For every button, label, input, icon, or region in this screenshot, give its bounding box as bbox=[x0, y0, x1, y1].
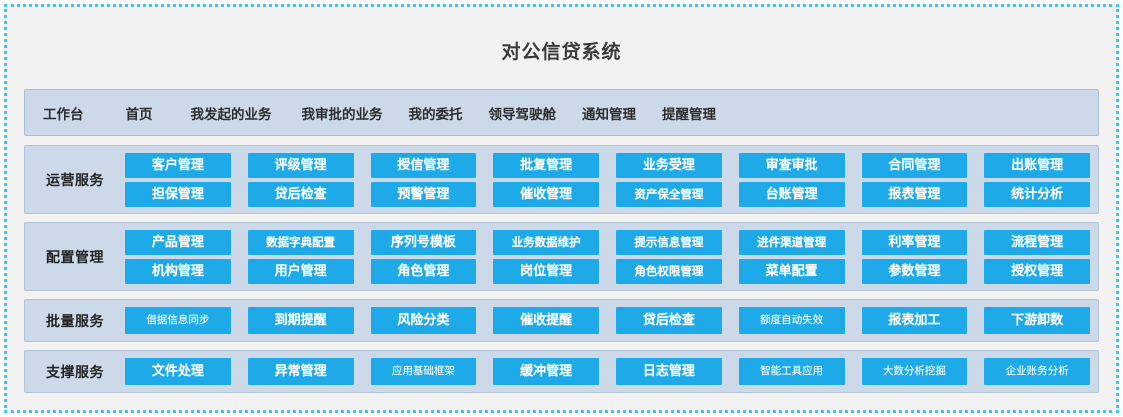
module-sections: 运营服务客户管理评级管理授信管理批复管理业务受理审查审批合同管理出账管理担保管理… bbox=[24, 145, 1099, 393]
module-tile-button[interactable]: 合同管理 bbox=[862, 153, 968, 178]
section-tile-grid-3: 文件处理异常管理应用基础框架缓冲管理日志管理智能工具应用大数分析挖掘企业账务分析 bbox=[125, 358, 1090, 385]
nav-item-4[interactable]: 我的委托 bbox=[409, 103, 463, 123]
nav-item-2[interactable]: 我发起的业务 bbox=[191, 103, 272, 123]
module-tile-button[interactable]: 报表管理 bbox=[862, 182, 968, 207]
section-panel-3: 支撑服务文件处理异常管理应用基础框架缓冲管理日志管理智能工具应用大数分析挖掘企业… bbox=[24, 350, 1099, 393]
module-tile-button[interactable]: 文件处理 bbox=[125, 358, 231, 385]
module-tile-button[interactable]: 统计分析 bbox=[984, 182, 1090, 207]
module-tile-button[interactable]: 额度自动失效 bbox=[739, 307, 845, 334]
module-tile-button[interactable]: 企业账务分析 bbox=[984, 358, 1090, 385]
section-label-3: 支撑服务 bbox=[25, 362, 125, 382]
module-tile-button[interactable]: 台账管理 bbox=[739, 182, 845, 207]
module-tile-button[interactable]: 大数分析挖掘 bbox=[862, 358, 968, 385]
module-tile-button[interactable]: 提示信息管理 bbox=[616, 230, 722, 255]
section-tile-grid-0: 客户管理评级管理授信管理批复管理业务受理审查审批合同管理出账管理担保管理贷后检查… bbox=[125, 153, 1090, 207]
module-tile-button[interactable]: 下游卸数 bbox=[984, 307, 1090, 334]
module-tile-button[interactable]: 资产保全管理 bbox=[616, 182, 722, 207]
module-tile-button[interactable]: 担保管理 bbox=[125, 182, 231, 207]
module-tile-button[interactable]: 出账管理 bbox=[984, 153, 1090, 178]
module-tile-button[interactable]: 催收管理 bbox=[493, 182, 599, 207]
nav-item-6[interactable]: 通知管理 bbox=[582, 103, 636, 123]
module-tile-button[interactable]: 应用基础框架 bbox=[371, 358, 477, 385]
module-tile-button[interactable]: 流程管理 bbox=[984, 230, 1090, 255]
module-tile-button[interactable]: 到期提醒 bbox=[248, 307, 354, 334]
module-tile-button[interactable]: 缓冲管理 bbox=[493, 358, 599, 385]
nav-item-5[interactable]: 领导驾驶舱 bbox=[489, 103, 557, 123]
application-content: 对公信贷系统 工作台首页我发起的业务我审批的业务我的委托领导驾驶舱通知管理提醒管… bbox=[12, 12, 1111, 405]
section-panel-1: 配置管理产品管理数据字典配置序列号模板业务数据维护提示信息管理进件渠道管理利率管… bbox=[24, 222, 1099, 291]
module-tile-button[interactable]: 授信管理 bbox=[371, 153, 477, 178]
section-label-2: 批量服务 bbox=[25, 311, 125, 331]
module-tile-button[interactable]: 利率管理 bbox=[862, 230, 968, 255]
module-tile-button[interactable]: 催收提醒 bbox=[493, 307, 599, 334]
module-tile-button[interactable]: 预警管理 bbox=[371, 182, 477, 207]
module-tile-button[interactable]: 角色权限管理 bbox=[616, 259, 722, 284]
module-tile-button[interactable]: 智能工具应用 bbox=[739, 358, 845, 385]
module-tile-button[interactable]: 授权管理 bbox=[984, 259, 1090, 284]
module-tile-button[interactable]: 角色管理 bbox=[371, 259, 477, 284]
section-panel-2: 批量服务借据信息同步到期提醒风险分类催收提醒贷后检查额度自动失效报表加工下游卸数 bbox=[24, 299, 1099, 342]
module-tile-button[interactable]: 审查审批 bbox=[739, 153, 845, 178]
module-tile-button[interactable]: 贷后检查 bbox=[248, 182, 354, 207]
nav-item-0[interactable]: 工作台 bbox=[43, 103, 84, 123]
module-tile-button[interactable]: 报表加工 bbox=[862, 307, 968, 334]
module-tile-button[interactable]: 数据字典配置 bbox=[248, 230, 354, 255]
nav-item-3[interactable]: 我审批的业务 bbox=[302, 103, 383, 123]
module-tile-button[interactable]: 贷后检查 bbox=[616, 307, 722, 334]
section-tile-grid-1: 产品管理数据字典配置序列号模板业务数据维护提示信息管理进件渠道管理利率管理流程管… bbox=[125, 230, 1090, 284]
module-tile-button[interactable]: 异常管理 bbox=[248, 358, 354, 385]
module-tile-button[interactable]: 风险分类 bbox=[371, 307, 477, 334]
module-tile-button[interactable]: 岗位管理 bbox=[493, 259, 599, 284]
module-tile-button[interactable]: 产品管理 bbox=[125, 230, 231, 255]
section-panel-0: 运营服务客户管理评级管理授信管理批复管理业务受理审查审批合同管理出账管理担保管理… bbox=[24, 145, 1099, 214]
application-window: 对公信贷系统 工作台首页我发起的业务我审批的业务我的委托领导驾驶舱通知管理提醒管… bbox=[4, 4, 1119, 413]
section-label-0: 运营服务 bbox=[25, 170, 125, 190]
module-tile-button[interactable]: 用户管理 bbox=[248, 259, 354, 284]
page-title: 对公信贷系统 bbox=[12, 12, 1111, 67]
module-tile-button[interactable]: 进件渠道管理 bbox=[739, 230, 845, 255]
module-tile-button[interactable]: 业务数据维护 bbox=[493, 230, 599, 255]
module-tile-button[interactable]: 菜单配置 bbox=[739, 259, 845, 284]
module-tile-button[interactable]: 借据信息同步 bbox=[125, 307, 231, 334]
section-label-1: 配置管理 bbox=[25, 247, 125, 267]
module-tile-button[interactable]: 序列号模板 bbox=[371, 230, 477, 255]
module-tile-button[interactable]: 业务受理 bbox=[616, 153, 722, 178]
nav-item-7[interactable]: 提醒管理 bbox=[662, 103, 716, 123]
nav-item-1[interactable]: 首页 bbox=[126, 103, 153, 123]
section-tile-grid-2: 借据信息同步到期提醒风险分类催收提醒贷后检查额度自动失效报表加工下游卸数 bbox=[125, 307, 1090, 334]
module-tile-button[interactable]: 机构管理 bbox=[125, 259, 231, 284]
module-tile-button[interactable]: 参数管理 bbox=[862, 259, 968, 284]
module-tile-button[interactable]: 批复管理 bbox=[493, 153, 599, 178]
module-tile-button[interactable]: 客户管理 bbox=[125, 153, 231, 178]
module-tile-button[interactable]: 评级管理 bbox=[248, 153, 354, 178]
main-navigation-bar: 工作台首页我发起的业务我审批的业务我的委托领导驾驶舱通知管理提醒管理 bbox=[24, 89, 1099, 136]
module-tile-button[interactable]: 日志管理 bbox=[616, 358, 722, 385]
